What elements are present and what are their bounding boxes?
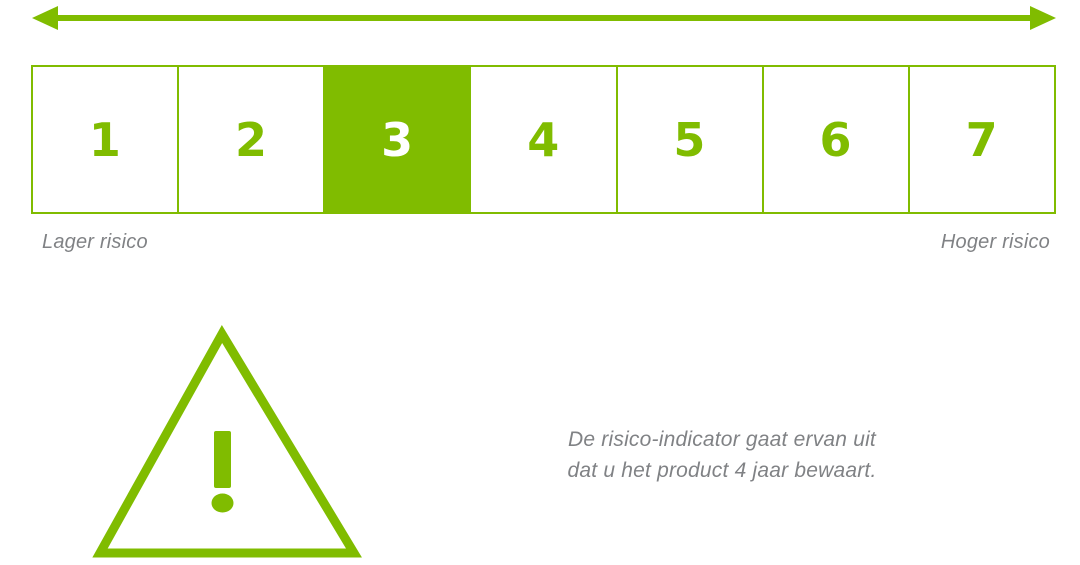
warning-triangle-exclamation-icon [88, 325, 363, 560]
risk-scale-cell-value: 3 [381, 117, 414, 163]
risk-scale-cell-value: 5 [673, 117, 706, 163]
risk-scale-label-high: Hoger risico [941, 231, 1050, 254]
risk-scale-label-low: Lager risico [42, 231, 148, 254]
warning-note-text: De risico-indicator gaat ervan uit dat u… [472, 424, 972, 486]
risk-scale-cell-1[interactable]: 1 [33, 67, 179, 212]
risk-scale-cell-4[interactable]: 4 [471, 67, 617, 212]
risk-scale-cell-2[interactable]: 2 [179, 67, 325, 212]
warning-triangle-shape [88, 325, 363, 560]
risk-direction-arrow [28, 2, 1060, 34]
risk-scale-cell-6[interactable]: 6 [764, 67, 910, 212]
risk-scale-cell-5[interactable]: 5 [618, 67, 764, 212]
risk-scale-cell-value: 7 [966, 117, 999, 163]
exclamation-bar [214, 431, 231, 488]
risk-scale-cell-value: 4 [527, 117, 560, 163]
warning-note-line-2: dat u het product 4 jaar bewaart. [472, 455, 972, 486]
risk-scale-cell-value: 1 [89, 117, 122, 163]
risk-indicator-figure: 1 2 3 4 5 6 7 Lager risico Hoger risico [0, 0, 1080, 565]
risk-scale-cell-value: 2 [235, 117, 268, 163]
exclamation-dot [212, 494, 234, 513]
risk-scale-cell-value: 6 [820, 117, 853, 163]
risk-scale-cell-3-selected[interactable]: 3 [325, 67, 471, 212]
risk-scale-cell-7[interactable]: 7 [910, 67, 1054, 212]
double-headed-arrow-icon [28, 2, 1060, 34]
warning-note-line-1: De risico-indicator gaat ervan uit [472, 424, 972, 455]
risk-scale: 1 2 3 4 5 6 7 [31, 65, 1056, 214]
